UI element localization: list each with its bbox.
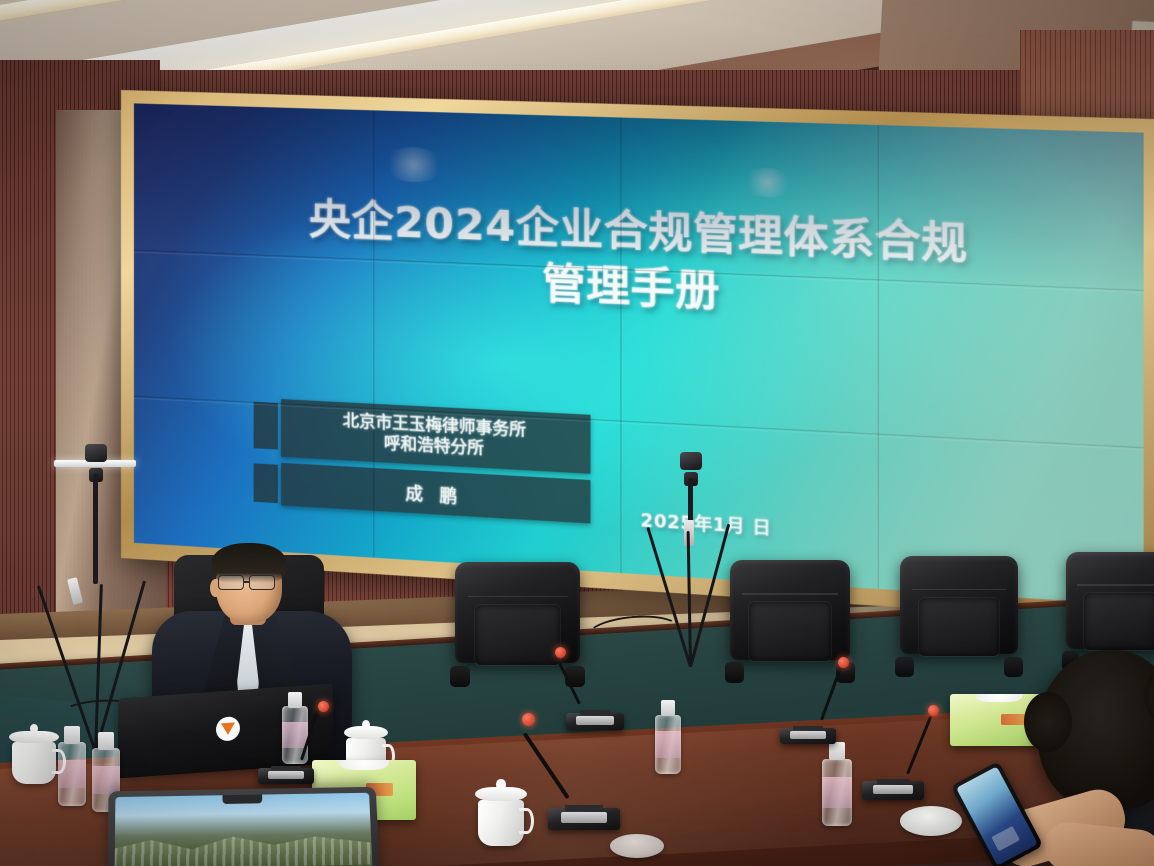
video-wall-bezel (877, 125, 878, 589)
microphone-indicator (838, 657, 849, 668)
conference-chair (730, 560, 850, 688)
teacup (12, 726, 56, 784)
water-bottle (822, 742, 852, 826)
saucer-plate (900, 806, 962, 836)
desktop-wallpaper (115, 829, 373, 866)
credit-tab (253, 464, 278, 503)
conference-microphone[interactable] (862, 768, 924, 800)
glasses-icon (216, 575, 280, 591)
presentation-slide: 央企2024企业合规管理体系合规 管理手册 北京市王玉梅律师事务所 呼和浩特分所… (134, 103, 1144, 605)
conference-microphone[interactable] (548, 792, 620, 830)
video-wall-frame: 央企2024企业合规管理体系合规 管理手册 北京市王玉梅律师事务所 呼和浩特分所… (121, 90, 1154, 624)
video-wall-bezel (373, 110, 374, 557)
slide-title: 央企2024企业合规管理体系合规 管理手册 (181, 189, 1111, 336)
microphone-indicator (522, 713, 535, 726)
attendee-hair (1038, 650, 1154, 810)
credit-tab (253, 402, 278, 450)
laptop-logo (216, 716, 240, 742)
microphone-indicator (318, 701, 329, 712)
conference-microphone[interactable] (566, 700, 624, 730)
conference-chair (455, 562, 580, 692)
video-wall-screen[interactable]: 央企2024企业合规管理体系合规 管理手册 北京市王玉梅律师事务所 呼和浩特分所… (134, 103, 1144, 605)
camera-icon (85, 444, 107, 462)
webcam-notch (222, 795, 263, 804)
conference-room-photo: 央企2024企业合规管理体系合规 管理手册 北京市王玉梅律师事务所 呼和浩特分所… (0, 0, 1154, 866)
person-attendee (1020, 650, 1154, 866)
slide-presenter-box: 成 鹏 (281, 463, 590, 524)
camera-icon (680, 452, 702, 470)
macbook-screen (114, 793, 373, 866)
slide-firm-box: 北京市王玉梅律师事务所 呼和浩特分所 (281, 399, 590, 474)
tripod-control (67, 577, 83, 605)
microphone-indicator (928, 705, 939, 716)
video-wall-bezel (620, 118, 621, 574)
conference-chair (900, 556, 1018, 682)
presenter-name: 成 鹏 (405, 479, 462, 508)
saucer-plate (610, 834, 664, 858)
water-bottle (655, 700, 681, 774)
macbook-open[interactable] (107, 787, 380, 866)
microphone-indicator (555, 647, 566, 658)
conference-microphone[interactable] (780, 716, 836, 744)
teacup (478, 782, 524, 846)
firm-line-2: 呼和浩特分所 (384, 433, 484, 459)
conference-microphone[interactable] (258, 756, 314, 784)
person-speaker (148, 545, 358, 760)
